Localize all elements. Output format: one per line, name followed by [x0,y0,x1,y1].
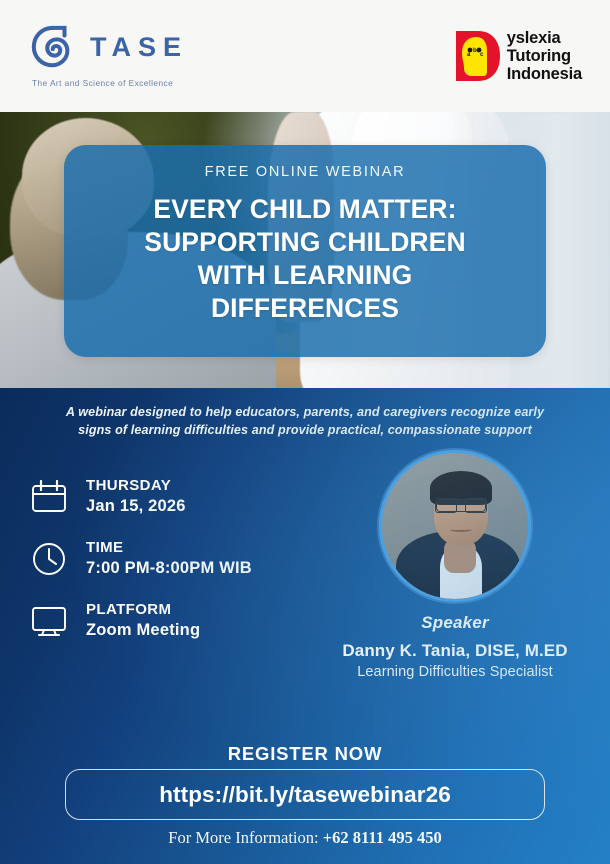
register-url[interactable]: https://bit.ly/tasewebinar26 [159,782,451,808]
webinar-description: A webinar designed to help educators, pa… [0,403,610,440]
title-line-1: EVERY CHILD MATTER: [144,193,465,226]
title-line-3: WITH LEARNING [144,259,465,292]
calendar-icon [30,478,68,516]
detail-row-date: THURSDAY Jan 15, 2026 [30,466,330,528]
more-information-label: For More Information: [168,828,318,847]
tase-logo-row: TASE [30,24,188,70]
title-line-4: DIFFERENCES [144,292,465,325]
tase-wordmark: TASE [90,34,188,61]
detail-row-time: TIME 7:00 PM-8:00PM WIB [30,528,330,590]
dti-line-3: Indonesia [507,65,582,83]
poster-header: TASE The Art and Science of Excellence a… [0,0,610,112]
dti-line-1: yslexia [507,29,582,47]
tase-tagline: The Art and Science of Excellence [32,78,173,88]
description-line-1: A webinar designed to help educators, pa… [26,403,584,421]
speaker-name: Danny K. Tania, DISE, M.ED [310,641,600,661]
event-details: THURSDAY Jan 15, 2026 TIME 7:00 PM-8:00P… [30,466,330,652]
detail-row-platform: PLATFORM Zoom Meeting [30,590,330,652]
speaker-role: Speaker [310,613,600,633]
webinar-eyebrow: FREE ONLINE WEBINAR [205,164,406,180]
clock-icon [30,540,68,578]
page-title: EVERY CHILD MATTER: SUPPORTING CHILDREN … [144,193,465,324]
speaker-title: Learning Difficulties Specialist [310,664,600,680]
dti-line-2: Tutoring [507,47,582,65]
monitor-icon [30,602,68,640]
register-link-box[interactable]: https://bit.ly/tasewebinar26 [65,769,545,820]
tase-logo: TASE The Art and Science of Excellence [30,24,188,88]
detail-value-date: Jan 15, 2026 [86,497,186,516]
detail-value-time: 7:00 PM-8:00PM WIB [86,559,252,578]
dyslexia-d-face-icon: a b c [454,29,502,83]
title-card: FREE ONLINE WEBINAR EVERY CHILD MATTER: … [64,145,546,357]
avatar-glasses [436,499,486,512]
dti-wordmark: yslexia Tutoring Indonesia [507,29,582,83]
description-line-2: signs of learning difficulties and provi… [26,421,584,439]
speaker-section: Speaker Danny K. Tania, DISE, M.ED Learn… [310,450,600,680]
tase-spiral-icon [30,24,76,70]
dyslexia-tutoring-indonesia-logo: a b c yslexia Tutoring Indonesia [454,29,582,83]
more-information: For More Information: +62 8111 495 450 [0,828,610,848]
avatar-mouth [450,527,472,532]
svg-text:b: b [473,48,477,54]
detail-label-time: TIME [86,539,252,557]
contact-phone[interactable]: +62 8111 495 450 [323,828,442,847]
poster-body: A webinar designed to help educators, pa… [0,388,610,864]
detail-label-date: THURSDAY [86,477,186,495]
title-line-2: SUPPORTING CHILDREN [144,226,465,259]
webinar-poster: TASE The Art and Science of Excellence a… [0,0,610,864]
register-heading: REGISTER NOW [0,743,610,765]
detail-text-time: TIME 7:00 PM-8:00PM WIB [86,539,252,578]
detail-text-date: THURSDAY Jan 15, 2026 [86,477,186,516]
avatar [379,450,531,602]
detail-value-platform: Zoom Meeting [86,621,200,640]
detail-text-platform: PLATFORM Zoom Meeting [86,601,200,640]
detail-label-platform: PLATFORM [86,601,200,619]
